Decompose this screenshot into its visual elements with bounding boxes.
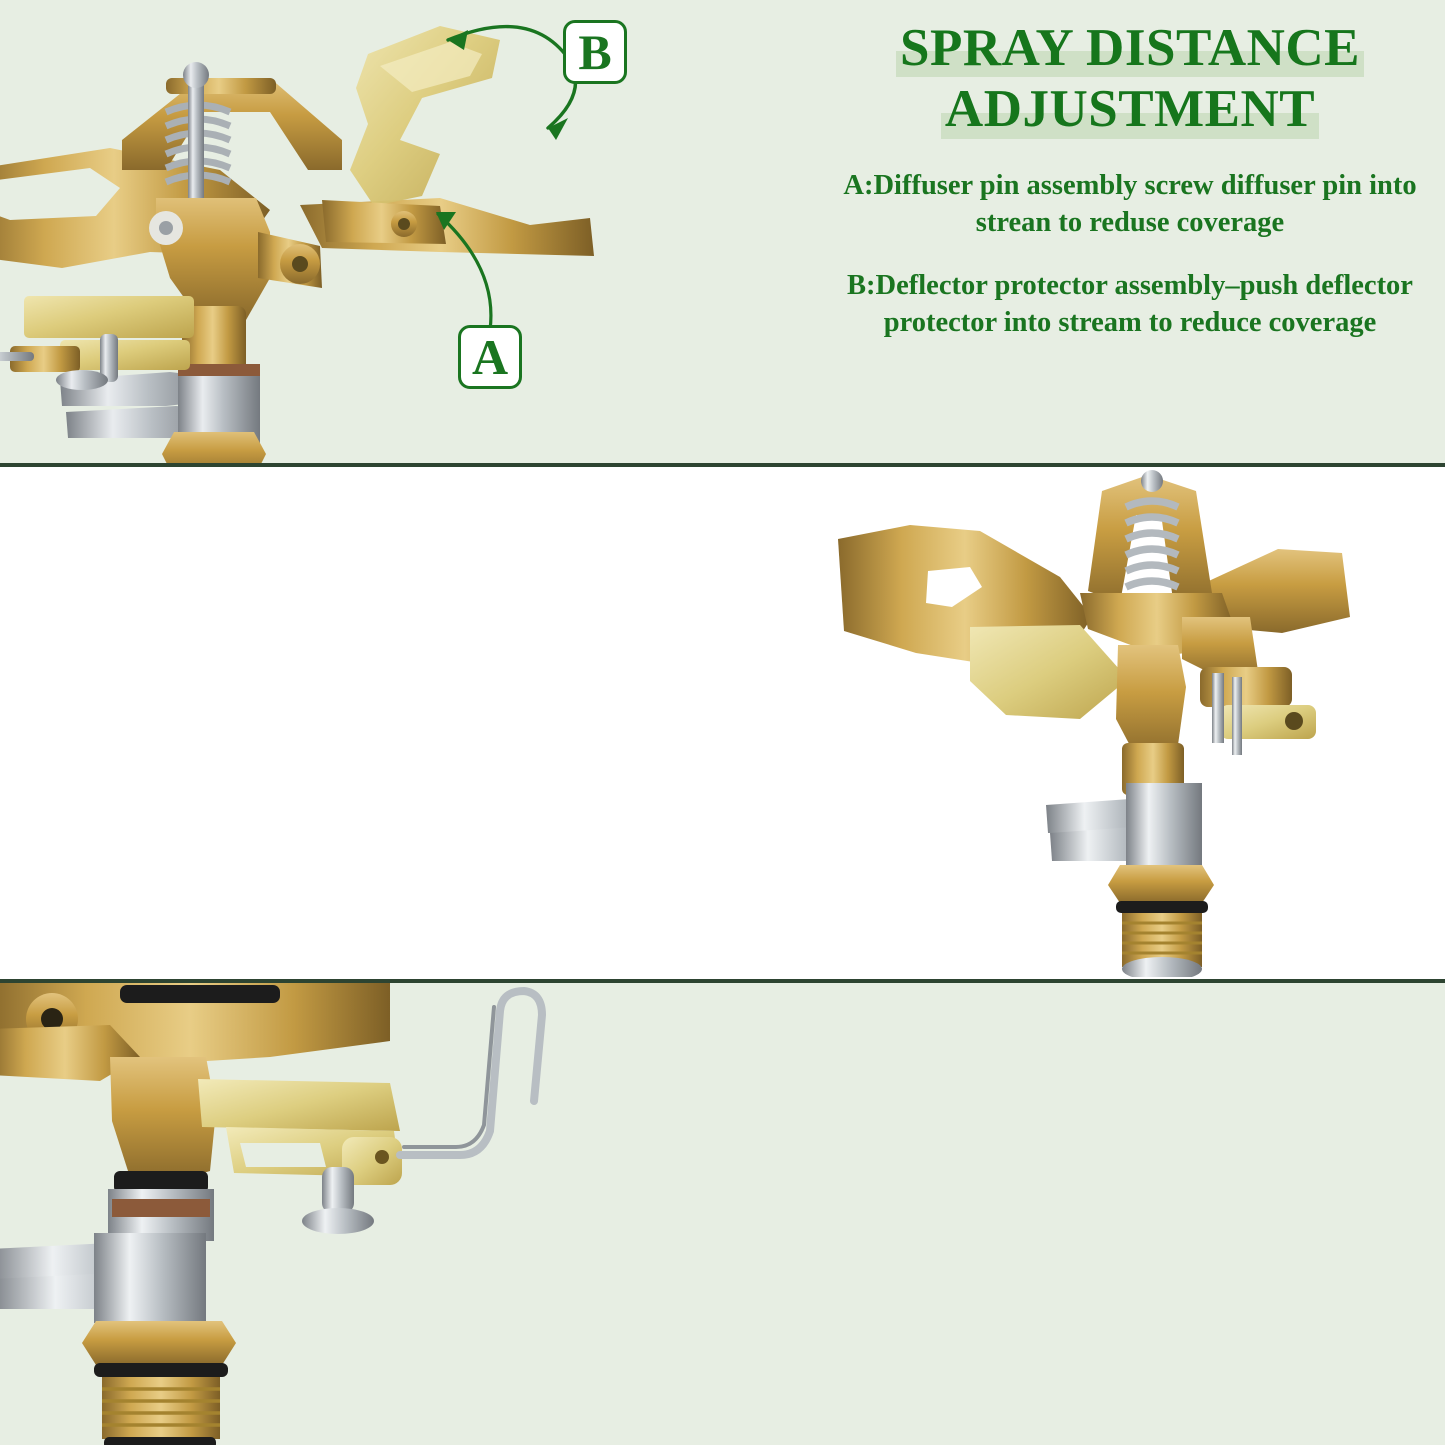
- sprinkler-image-all-circle: [0, 983, 610, 1445]
- instruction-paragraph-a: A:Diffuser pin assembly screw diffuser p…: [820, 167, 1440, 241]
- callout-badge-a: A: [458, 325, 522, 389]
- instruction-paragraph-b: B:Deflector protector assembly–push defl…: [820, 267, 1440, 341]
- panel-spray-distance: B A SPRAY DISTANCE ADJUSTMENT A:Diffuser…: [0, 0, 1445, 466]
- sprinkler-image-part-circle: [830, 467, 1410, 977]
- text-column-spray-distance: SPRAY DISTANCE ADJUSTMENT A:Diffuser pin…: [820, 18, 1440, 341]
- panel-divider-bottom: [0, 979, 1445, 983]
- panel-title-spray-distance: SPRAY DISTANCE ADJUSTMENT: [820, 18, 1440, 141]
- instruction-sheet: B A SPRAY DISTANCE ADJUSTMENT A:Diffuser…: [0, 0, 1445, 1445]
- sprinkler-image-spray-distance: [0, 20, 610, 466]
- panel-part-circle: A B PART CIRCLE ADJUSTMENT A:Push the tr…: [0, 467, 1445, 982]
- panel-divider-top: [0, 463, 1445, 467]
- callout-badge-b: B: [563, 20, 627, 84]
- panel-all-circle: A ALL CIRCLE COVERAGE A:Push the trip pi…: [0, 983, 1445, 1445]
- title-line: SPRAY DISTANCE: [896, 18, 1364, 79]
- title-line: ADJUSTMENT: [941, 79, 1319, 140]
